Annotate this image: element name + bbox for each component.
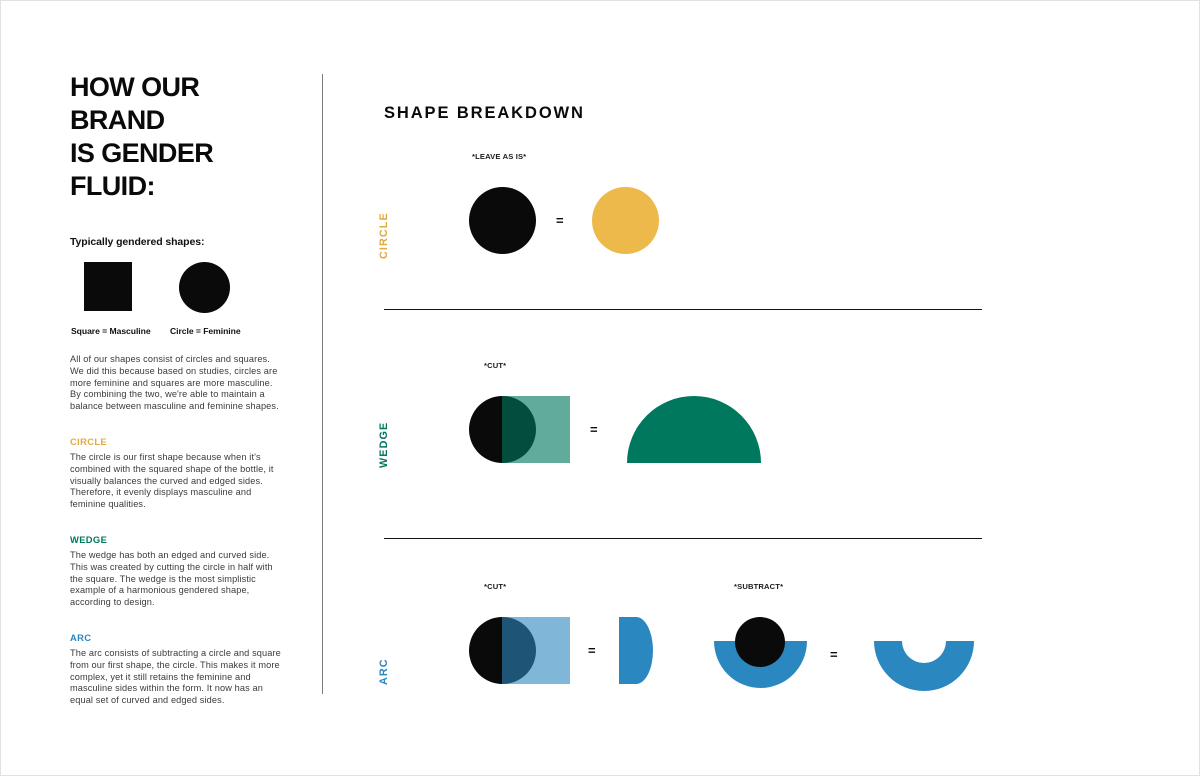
black-circle-icon (179, 262, 230, 313)
section-body-arc: The arc consists of subtracting a circle… (70, 648, 285, 707)
arc-result-blue-horseshoe (874, 641, 974, 691)
circle-source-black-circle (469, 187, 536, 254)
square-masculine-caption: Square = Masculine (71, 326, 151, 336)
operation-note-cut-arc: *CUT* (484, 582, 506, 591)
row-label-arc: ARC (378, 658, 390, 685)
wedge-result-green-dome (627, 396, 761, 463)
row-label-circle: CIRCLE (378, 212, 390, 259)
circle-result-gold-circle (592, 187, 659, 254)
poster-page: HOW OUR BRAND IS GENDER FLUID: Typically… (0, 0, 1200, 776)
operation-note-leave-as-is: *LEAVE AS IS* (472, 152, 526, 161)
typically-gendered-shapes-label: Typically gendered shapes: (70, 236, 285, 248)
page-title: HOW OUR BRAND IS GENDER FLUID: (70, 71, 285, 203)
arc-stage1-blue-half-circle (619, 617, 653, 684)
equals-sign-wedge: = (590, 422, 598, 437)
gendered-shape-swatches: Square = Masculine Circle = Feminine (70, 262, 285, 340)
intro-paragraph: All of our shapes consist of circles and… (70, 354, 285, 413)
section-title-circle: CIRCLE (70, 436, 285, 447)
row-divider-2 (384, 538, 982, 539)
section-title-arc: ARC (70, 632, 285, 643)
shape-breakdown-panel: SHAPE BREAKDOWN CIRCLE *LEAVE AS IS* = W… (384, 1, 1004, 776)
equals-sign-arc-1: = (588, 643, 596, 658)
circle-feminine-caption: Circle = Feminine (170, 326, 241, 336)
section-body-circle: The circle is our first shape because wh… (70, 452, 285, 511)
arc-subtract-black-circle (735, 617, 785, 667)
black-square-icon (84, 262, 132, 311)
section-title-wedge: WEDGE (70, 534, 285, 545)
wedge-source-green-square (502, 396, 570, 463)
operation-note-cut-wedge: *CUT* (484, 361, 506, 370)
section-body-wedge: The wedge has both an edged and curved s… (70, 550, 285, 609)
left-column: HOW OUR BRAND IS GENDER FLUID: Typically… (70, 71, 285, 707)
arc-source-blue-square (502, 617, 570, 684)
equals-sign-circle: = (556, 213, 564, 228)
row-label-wedge: WEDGE (378, 422, 390, 468)
operation-note-subtract: *SUBTRACT* (734, 582, 783, 591)
vertical-divider (322, 74, 323, 694)
equals-sign-arc-2: = (830, 647, 838, 662)
row-divider-1 (384, 309, 982, 310)
shape-breakdown-title: SHAPE BREAKDOWN (384, 104, 585, 123)
